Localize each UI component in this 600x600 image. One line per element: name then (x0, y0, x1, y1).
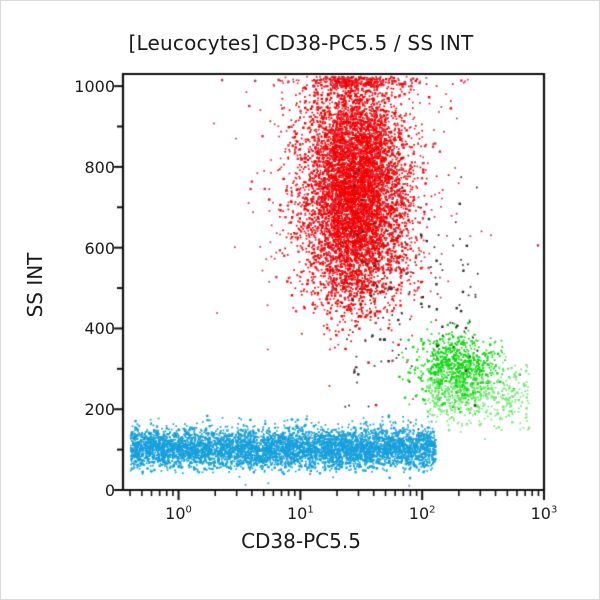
y-tick-label: 400 (59, 319, 115, 338)
x-tick-label: 100 (149, 504, 209, 523)
y-tick-label: 600 (59, 239, 115, 258)
x-tick-label: 103 (514, 504, 574, 523)
x-tick-label: 102 (392, 504, 452, 523)
y-tick-label: 200 (59, 400, 115, 419)
page-title: [Leucocytes] CD38-PC5.5 / SS INT (1, 31, 600, 55)
y-axis-label: SS INT (23, 225, 47, 345)
y-tick-label: 0 (59, 481, 115, 500)
y-tick-label: 1000 (59, 77, 115, 96)
y-tick-label: 800 (59, 158, 115, 177)
x-tick-label: 101 (270, 504, 330, 523)
flow-cytometry-plot-window: [Leucocytes] CD38-PC5.5 / SS INT CD38-PC… (0, 0, 600, 600)
x-axis-label: CD38-PC5.5 (1, 529, 600, 553)
